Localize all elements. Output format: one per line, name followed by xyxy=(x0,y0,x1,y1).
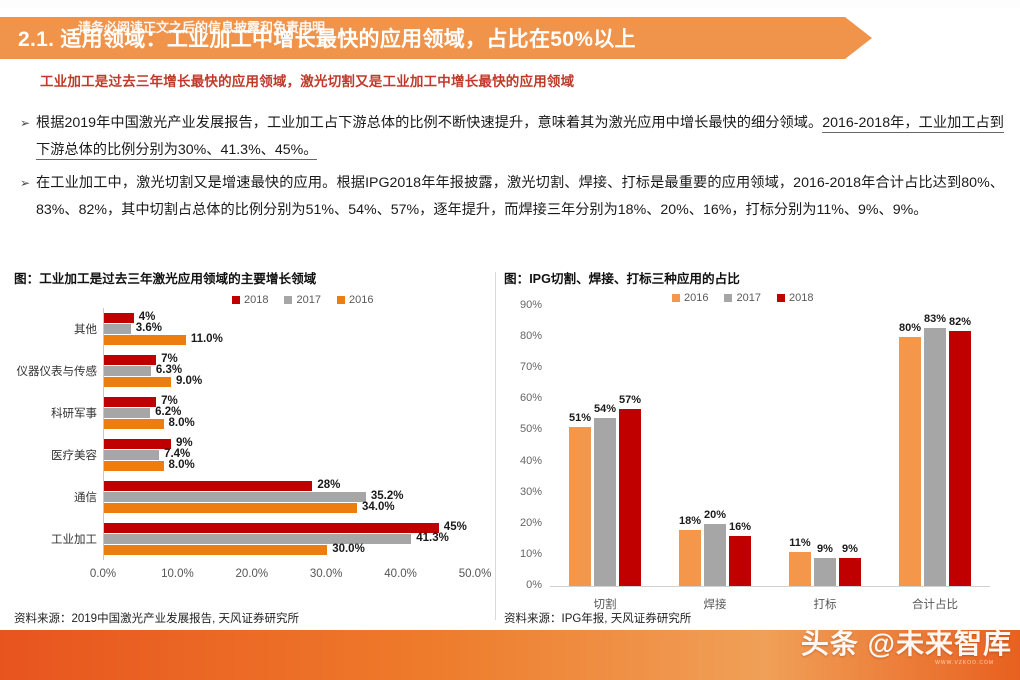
bar-2016-3 xyxy=(899,337,921,586)
category-label-3: 医疗美容 xyxy=(14,447,97,463)
bar-2018-5 xyxy=(104,523,439,533)
y-tick-8: 80% xyxy=(504,330,542,342)
plot-area-right: 2016201720180%10%20%30%40%50%60%70%80%90… xyxy=(504,290,1006,590)
category-label-3: 合计占比 xyxy=(880,596,990,612)
legend-label-2016: 2016 xyxy=(349,294,373,306)
y-tick-5: 50% xyxy=(504,423,542,435)
bar-2018-4 xyxy=(104,481,312,491)
legend-label-2018: 2018 xyxy=(244,294,268,306)
bar-value-2016-2: 8.0% xyxy=(169,417,195,429)
bullet-item: ➢ 根据2019年中国激光产业发展报告，工业加工占下游总体的比例不断快速提升，意… xyxy=(14,110,1004,164)
x-tick-4: 40.0% xyxy=(371,568,431,580)
y-tick-2: 20% xyxy=(504,517,542,529)
bar-2017-0 xyxy=(104,324,131,334)
bar-value-2018-2: 9% xyxy=(832,543,868,555)
bar-2017-4 xyxy=(104,492,366,502)
legend-swatch-2016 xyxy=(672,294,680,302)
legend-item: 2017 xyxy=(284,294,320,306)
bar-2016-0 xyxy=(104,335,186,345)
bar-2017-5 xyxy=(104,534,411,544)
bar-2017-0 xyxy=(594,418,616,586)
legend-swatch-2017 xyxy=(724,294,732,302)
bar-2016-4 xyxy=(104,503,357,513)
bullet-arrow-icon: ➢ xyxy=(14,170,36,197)
category-label-5: 工业加工 xyxy=(14,531,97,547)
bar-value-2018-4: 28% xyxy=(317,479,340,491)
chart-title-left: 图：工业加工是过去三年激光应用领域的主要增长领域 xyxy=(14,268,490,287)
category-label-1: 仪器仪表与传感 xyxy=(14,363,97,379)
category-label-2: 科研军事 xyxy=(14,405,97,421)
bar-2018-3 xyxy=(949,331,971,586)
bullet-arrow-icon: ➢ xyxy=(14,110,36,137)
legend-swatch-2018 xyxy=(232,296,240,304)
footer-disclaimer: 请务必阅读正文之后的信息披露和免责申明 xyxy=(78,17,325,36)
bar-2018-1 xyxy=(104,355,156,365)
bar-value-2018-3: 82% xyxy=(942,316,978,328)
x-tick-0: 0.0% xyxy=(73,568,133,580)
x-tick-5: 50.0% xyxy=(445,568,505,580)
top-strip xyxy=(0,0,1020,8)
bar-value-2016-3: 8.0% xyxy=(169,459,195,471)
legend-swatch-2016 xyxy=(337,296,345,304)
bar-value-2016-5: 30.0% xyxy=(332,543,365,555)
bar-value-2018-0: 57% xyxy=(612,394,648,406)
sub-headline: 工业加工是过去三年增长最快的应用领域，激光切割又是工业加工中增长最快的应用领域 xyxy=(40,70,574,90)
bar-2017-1 xyxy=(104,366,151,376)
chart-legend-right: 201620172018 xyxy=(672,292,813,304)
legend-item: 2018 xyxy=(777,292,813,304)
bar-2018-2 xyxy=(104,397,156,407)
legend-item: 2016 xyxy=(672,292,708,304)
bullet-text: 根据2019年中国激光产业发展报告，工业加工占下游总体的比例不断快速提升，意味着… xyxy=(36,110,1004,164)
bar-value-2016-4: 34.0% xyxy=(362,501,395,513)
bar-2016-1 xyxy=(679,530,701,586)
watermark-sub-label: WWW.VZKOO.COM xyxy=(935,660,994,666)
bar-value-2017-1: 20% xyxy=(697,509,733,521)
bullet-text-plain: 根据2019年中国激光产业发展报告，工业加工占下游总体的比例不断快速提升，意味着… xyxy=(36,115,822,131)
chart-legend-left: 201820172016 xyxy=(232,294,373,306)
legend-item: 2016 xyxy=(337,294,373,306)
bar-2017-3 xyxy=(924,328,946,586)
bar-2018-3 xyxy=(104,439,171,449)
bar-2018-0 xyxy=(104,313,134,323)
legend-item: 2018 xyxy=(232,294,268,306)
bar-value-2016-1: 9.0% xyxy=(176,375,202,387)
legend-label-2017: 2017 xyxy=(296,294,320,306)
chart-panel-left: 图：工业加工是过去三年激光应用领域的主要增长领域 201820172016其他4… xyxy=(14,268,490,628)
category-label-4: 通信 xyxy=(14,489,97,505)
legend-label-2016: 2016 xyxy=(684,292,708,304)
legend-swatch-2018 xyxy=(777,294,785,302)
legend-item: 2017 xyxy=(724,292,760,304)
bar-2018-0 xyxy=(619,409,641,586)
bar-2018-1 xyxy=(729,536,751,586)
slide-root: 2.1. 适用领域：工业加工中增长最快的应用领域，占比在50%以上 工业加工是过… xyxy=(0,0,1020,680)
bullet-text: 在工业加工中，激光切割又是增速最快的应用。根据IPG2018年年报披露，激光切割… xyxy=(36,170,1004,224)
x-tick-1: 10.0% xyxy=(147,568,207,580)
y-tick-4: 40% xyxy=(504,455,542,467)
chart-panel-right: 图：IPG切割、焊接、打标三种应用的占比 2016201720180%10%20… xyxy=(504,268,1006,628)
category-label-2: 打标 xyxy=(770,596,880,612)
bar-2016-2 xyxy=(104,419,164,429)
chart-source-right: 资料来源：IPG年报, 天风证券研究所 xyxy=(504,610,691,626)
chart-title-right: 图：IPG切割、焊接、打标三种应用的占比 xyxy=(504,268,1006,287)
legend-label-2018: 2018 xyxy=(789,292,813,304)
y-tick-9: 90% xyxy=(504,299,542,311)
legend-swatch-2017 xyxy=(284,296,292,304)
bar-2017-2 xyxy=(104,408,150,418)
category-label-0: 其他 xyxy=(14,321,97,337)
charts-container: 图：工业加工是过去三年激光应用领域的主要增长领域 201820172016其他4… xyxy=(0,268,1020,628)
x-axis-line-right xyxy=(550,586,990,587)
bar-2016-0 xyxy=(569,427,591,586)
watermark-logo: 头条 @未来智库 xyxy=(801,622,1012,662)
bar-2016-3 xyxy=(104,461,164,471)
bar-value-2017-5: 41.3% xyxy=(416,532,449,544)
plot-area-left: 201820172016其他4%3.6%11.0%仪器仪表与传感7%6.3%9.… xyxy=(14,290,490,590)
x-tick-3: 30.0% xyxy=(296,568,356,580)
y-tick-0: 0% xyxy=(504,579,542,591)
legend-label-2017: 2017 xyxy=(736,292,760,304)
bar-value-2018-1: 16% xyxy=(722,521,758,533)
bullet-list: ➢ 根据2019年中国激光产业发展报告，工业加工占下游总体的比例不断快速提升，意… xyxy=(14,110,1004,230)
bar-value-2016-0: 11.0% xyxy=(191,333,223,345)
bullet-item: ➢ 在工业加工中，激光切割又是增速最快的应用。根据IPG2018年年报披露，激光… xyxy=(14,170,1004,224)
bar-2016-5 xyxy=(104,545,327,555)
y-tick-7: 70% xyxy=(504,361,542,373)
y-tick-3: 30% xyxy=(504,486,542,498)
bar-2017-2 xyxy=(814,558,836,586)
bar-2018-2 xyxy=(839,558,861,586)
bar-value-2017-0: 3.6% xyxy=(136,322,162,334)
bar-2017-3 xyxy=(104,450,159,460)
y-tick-6: 60% xyxy=(504,392,542,404)
chart-source-left: 资料来源：2019中国激光产业发展报告, 天风证券研究所 xyxy=(14,610,299,626)
bar-2016-1 xyxy=(104,377,171,387)
y-tick-1: 10% xyxy=(504,548,542,560)
x-tick-2: 20.0% xyxy=(222,568,282,580)
bar-2016-2 xyxy=(789,552,811,586)
